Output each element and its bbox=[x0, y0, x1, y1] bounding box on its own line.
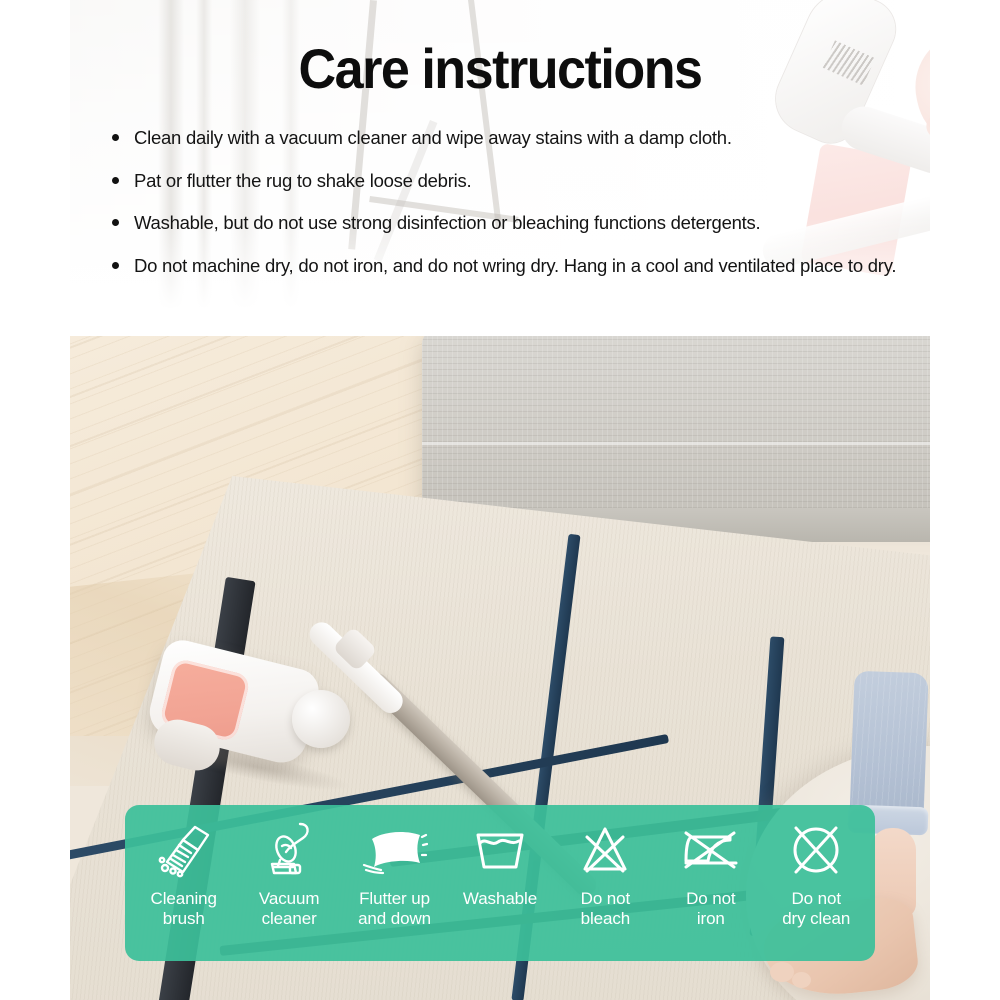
toe bbox=[792, 972, 811, 988]
do-not-bleach-icon bbox=[553, 819, 658, 881]
list-item: Do not machine dry, do not iron, and do … bbox=[112, 254, 912, 279]
toe bbox=[770, 962, 794, 982]
list-item: Clean daily with a vacuum cleaner and wi… bbox=[112, 126, 912, 151]
care-item-label: Washable bbox=[463, 889, 537, 909]
bullet-dot-icon bbox=[112, 134, 119, 141]
list-item-text: Washable, but do not use strong disinfec… bbox=[134, 212, 760, 233]
sofa bbox=[422, 336, 930, 520]
page-title: Care instructions bbox=[35, 41, 965, 97]
vacuum-wheel bbox=[292, 690, 350, 748]
washable-tub-icon bbox=[447, 819, 552, 881]
care-item-label: Do not iron bbox=[686, 889, 736, 929]
sofa-seam bbox=[422, 442, 930, 445]
product-care-page: Care instructions Clean daily with a vac… bbox=[0, 0, 1000, 1000]
care-symbols-panel: Cleaning brush Vacuum cleaner bbox=[125, 805, 875, 961]
care-item-flutter: Flutter up and down bbox=[342, 819, 447, 929]
care-item-vacuum-cleaner: Vacuum cleaner bbox=[236, 819, 341, 929]
vacuum-cleaner-icon bbox=[236, 819, 341, 881]
flutter-pillow-icon bbox=[342, 819, 447, 881]
care-item-label: Do not bleach bbox=[581, 889, 631, 929]
care-item-label: Flutter up and down bbox=[358, 889, 431, 929]
care-item-label: Vacuum cleaner bbox=[259, 889, 320, 929]
care-item-cleaning-brush: Cleaning brush bbox=[131, 819, 236, 929]
bullet-dot-icon bbox=[112, 219, 119, 226]
list-item-text: Clean daily with a vacuum cleaner and wi… bbox=[134, 127, 732, 148]
jeans-leg bbox=[849, 671, 928, 823]
care-instruction-list: Clean daily with a vacuum cleaner and wi… bbox=[112, 126, 912, 278]
bullet-dot-icon bbox=[112, 177, 119, 184]
do-not-iron-icon bbox=[658, 819, 763, 881]
list-item-text: Do not machine dry, do not iron, and do … bbox=[134, 255, 896, 276]
care-item-label: Do not dry clean bbox=[782, 889, 850, 929]
care-item-label: Cleaning brush bbox=[151, 889, 217, 929]
list-item: Pat or flutter the rug to shake loose de… bbox=[112, 169, 912, 194]
care-item-do-not-bleach: Do not bleach bbox=[553, 819, 658, 929]
care-item-do-not-iron: Do not iron bbox=[658, 819, 763, 929]
care-item-do-not-dry-clean: Do not dry clean bbox=[764, 819, 869, 929]
list-item: Washable, but do not use strong disinfec… bbox=[112, 211, 912, 236]
do-not-dry-clean-icon bbox=[764, 819, 869, 881]
cleaning-brush-icon bbox=[131, 819, 236, 881]
bullet-dot-icon bbox=[112, 262, 119, 269]
care-item-washable: Washable bbox=[447, 819, 552, 909]
list-item-text: Pat or flutter the rug to shake loose de… bbox=[134, 170, 471, 191]
